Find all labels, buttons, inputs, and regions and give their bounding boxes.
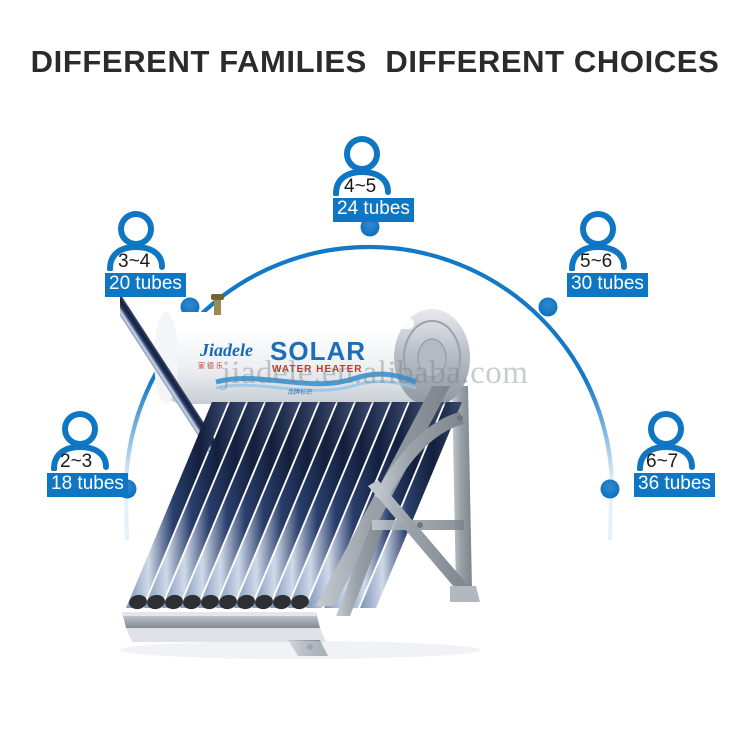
solar-water-heater-product: Jiadele 家 德 乐 SOLAR WATER HEATER 品牌标识: [120, 290, 560, 660]
svg-text:WATER HEATER: WATER HEATER: [272, 364, 363, 375]
family-size-label: 3~4: [118, 251, 150, 273]
family-size-label: 5~6: [580, 251, 612, 273]
tube-count-badge: 18 tubes: [47, 473, 128, 497]
arc-tail-right: [610, 492, 611, 540]
family-size-label: 4~5: [344, 176, 376, 198]
family-size-label: 2~3: [60, 451, 92, 473]
tank-vent-pipe: [211, 294, 224, 315]
ground-reflection: [120, 641, 480, 659]
svg-text:Jiadele: Jiadele: [199, 340, 253, 360]
svg-text:SOLAR: SOLAR: [270, 336, 366, 366]
svg-text:家 德 乐: 家 德 乐: [198, 361, 223, 370]
svg-text:品牌标识: 品牌标识: [288, 388, 312, 396]
tube-count-badge: 30 tubes: [567, 273, 648, 297]
water-tank: Jiadele 家 德 乐 SOLAR WATER HEATER 品牌标识: [154, 294, 470, 407]
tube-count-badge: 20 tubes: [105, 273, 186, 297]
tube-count-badge: 36 tubes: [634, 473, 715, 497]
infographic-page: DIFFERENT FAMILIES DIFFERENT CHOICES: [0, 0, 750, 750]
family-size-label: 6~7: [646, 451, 678, 473]
tube-count-badge: 24 tubes: [333, 198, 414, 222]
arc-node-dot-bottom-right: [601, 480, 620, 499]
